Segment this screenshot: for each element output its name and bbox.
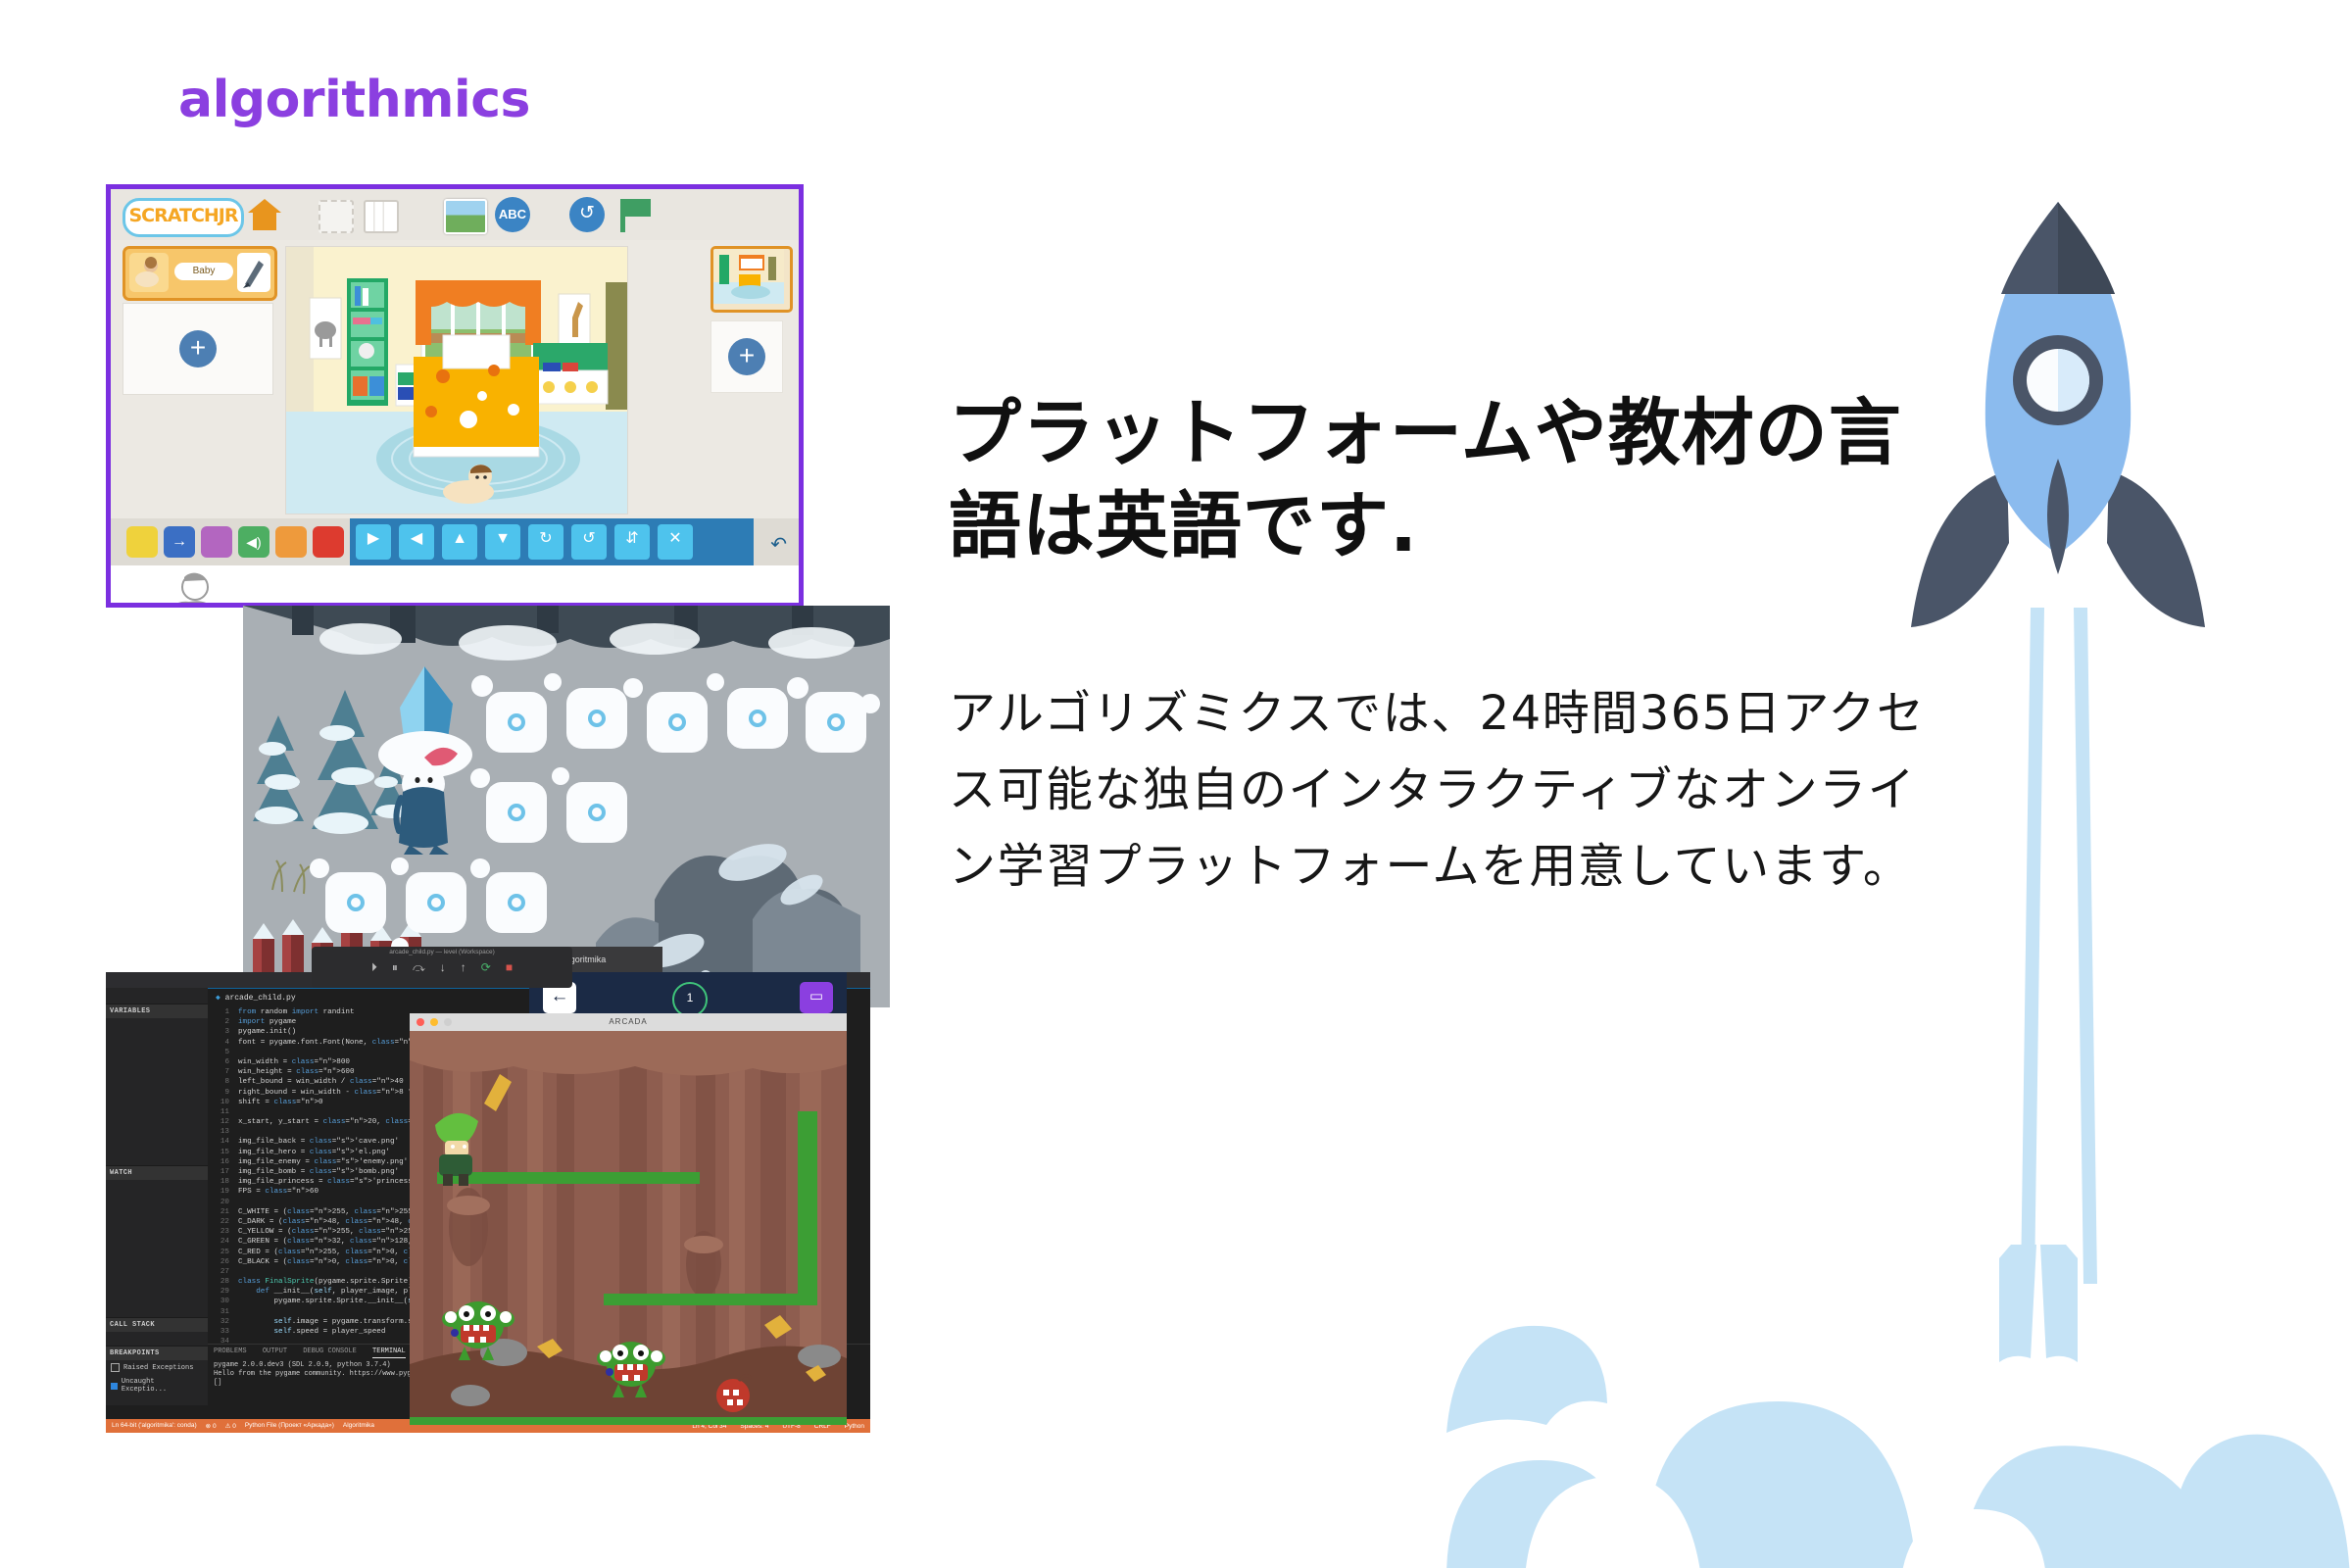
code-text: win_height = class="n">600	[238, 1068, 355, 1076]
section-call-stack[interactable]: CALL STACK	[106, 1317, 208, 1332]
stop-icon[interactable]: ■	[506, 960, 513, 974]
code-text	[238, 1308, 243, 1316]
code-text: img_file_hero = class="s">'el.png'	[238, 1149, 390, 1156]
tab-problems[interactable]: PROBLEMS	[214, 1347, 247, 1355]
close-icon[interactable]	[416, 1018, 424, 1026]
line-number: 1	[208, 1007, 229, 1017]
tab-debug-console[interactable]: DEBUG CONSOLE	[303, 1347, 357, 1355]
code-text: pygame.init()	[238, 1028, 296, 1036]
line-number: 26	[208, 1257, 229, 1267]
cave-scene	[410, 1031, 847, 1425]
page-title: プラットフォームや教材の言語は英語です.	[949, 387, 1929, 572]
line-number: 27	[208, 1267, 229, 1277]
section-watch[interactable]: WATCH	[106, 1165, 208, 1180]
tab-terminal[interactable]: TERMINAL	[372, 1347, 406, 1358]
page-panel: +	[710, 246, 789, 513]
checkbox-checked-icon[interactable]	[111, 1383, 118, 1390]
code-text	[238, 1108, 243, 1116]
line-number: 31	[208, 1307, 229, 1317]
page-list-icon[interactable]	[364, 200, 399, 233]
section-variables[interactable]: VARIABLES	[106, 1004, 208, 1018]
minimize-icon[interactable]	[430, 1018, 438, 1026]
code-text: left_bound = win_width / class="n">40	[238, 1078, 404, 1086]
breakpoint-label: Raised Exceptions	[123, 1364, 193, 1372]
character-thumbnail	[129, 253, 169, 292]
line-number: 2	[208, 1017, 229, 1027]
block-hop[interactable]: ⇵	[614, 524, 650, 560]
code-text: img_file_back = class="s">'cave.png'	[238, 1138, 399, 1146]
add-character-button[interactable]: +	[179, 330, 217, 367]
line-number: 25	[208, 1248, 229, 1257]
status-language-mode[interactable]: Python	[845, 1423, 864, 1430]
block-move-left[interactable]: ◀	[399, 524, 434, 560]
line-number: 11	[208, 1107, 229, 1117]
line-number: 8	[208, 1077, 229, 1087]
scratchjr-logo: SCRATCHJR	[122, 198, 244, 237]
line-number: 20	[208, 1198, 229, 1207]
page-thumbnail[interactable]	[710, 246, 793, 313]
category-looks[interactable]	[201, 526, 232, 558]
line-number: 16	[208, 1157, 229, 1167]
category-control[interactable]	[275, 526, 307, 558]
arcade-titlebar: ARCADA	[410, 1013, 847, 1031]
restart-icon[interactable]: ⟳	[481, 960, 491, 974]
line-number: 12	[208, 1117, 229, 1127]
add-page-button[interactable]: +	[728, 338, 765, 375]
breakpoint-label: Uncaught Exceptio...	[122, 1378, 203, 1394]
line-number: 22	[208, 1217, 229, 1227]
code-text	[238, 1268, 243, 1276]
scripting-area[interactable]	[111, 565, 799, 603]
checkbox-icon[interactable]	[111, 1363, 120, 1372]
pause-icon[interactable]: ⏸	[392, 960, 398, 975]
code-text: img_file_enemy = class="s">'enemy.png'	[238, 1158, 408, 1166]
line-number: 4	[208, 1038, 229, 1048]
code-text: from random import randint	[238, 1008, 355, 1016]
line-number: 6	[208, 1057, 229, 1067]
code-text: font = pygame.font.Font(None, class="n">…	[238, 1039, 430, 1047]
category-motion[interactable]: →	[164, 526, 195, 558]
line-number: 3	[208, 1027, 229, 1037]
block-move-down[interactable]: ▼	[485, 524, 520, 560]
line-number: 24	[208, 1237, 229, 1247]
rocket-trail	[1970, 608, 2156, 1313]
home-icon[interactable]	[248, 199, 281, 230]
line-number: 32	[208, 1317, 229, 1327]
line-number: 7	[208, 1067, 229, 1077]
editor-tab-label: arcade_child.py	[225, 994, 296, 1003]
line-number: 9	[208, 1088, 229, 1098]
line-number: 29	[208, 1287, 229, 1297]
line-number: 19	[208, 1187, 229, 1197]
step-over-icon[interactable]: ⤼	[413, 960, 425, 975]
slide-root: algorithmics SCRATCHJR ABC ↺ Baby +	[0, 0, 2352, 1568]
debug-floating-toolbar[interactable]: arcade_child.py — level (Workspace) ⏵ ⏸ …	[312, 947, 572, 988]
block-go-home[interactable]: ✕	[658, 524, 693, 560]
chat-icon[interactable]: ▭	[800, 982, 833, 1013]
python-file-icon: ◆	[216, 994, 220, 1003]
page-grid-icon[interactable]	[318, 200, 354, 233]
cloud-illustration	[1352, 1245, 2352, 1568]
line-number: 28	[208, 1277, 229, 1287]
category-triggering[interactable]	[126, 526, 158, 558]
code-text: pygame.sprite.Sprite.__init__(self)	[238, 1298, 430, 1305]
block-turn-right[interactable]: ↻	[528, 524, 563, 560]
step-into-icon[interactable]: ↓	[440, 960, 446, 974]
block-turn-left[interactable]: ↺	[571, 524, 607, 560]
line-number: 21	[208, 1207, 229, 1217]
tab-output[interactable]: OUTPUT	[263, 1347, 287, 1355]
block-palette: → ◀) ▶ ◀ ▲ ▼ ↻ ↺ ⇵ ✕ ↶	[111, 518, 799, 565]
scratchjr-toolbar: SCRATCHJR ABC ↺	[111, 189, 799, 240]
code-text: FPS = class="n">60	[238, 1188, 318, 1196]
page-description: アルゴリズミクスでは、24時間365日アクセス可能な独自のインタラクティブなオン…	[949, 676, 1948, 905]
code-text: img_file_princess = class="s">'princess.…	[238, 1178, 435, 1186]
code-text	[238, 1128, 243, 1136]
code-text: shift = class="n">0	[238, 1099, 323, 1106]
category-sound[interactable]: ◀)	[238, 526, 269, 558]
line-number: 13	[208, 1127, 229, 1137]
debug-sidebar: VARIABLES WATCH CALL STACK BREAKPOINTS R…	[106, 988, 208, 1405]
step-out-icon[interactable]: ↑	[461, 960, 466, 974]
line-number: 30	[208, 1297, 229, 1306]
block-move-right[interactable]: ▶	[356, 524, 391, 560]
motion-block-strip: ▶ ◀ ▲ ▼ ↻ ↺ ⇵ ✕	[350, 518, 754, 565]
line-number: 14	[208, 1137, 229, 1147]
add-page-slot[interactable]: +	[710, 320, 783, 393]
code-text	[238, 1049, 243, 1056]
line-number: 18	[208, 1177, 229, 1187]
breakpoint-row[interactable]: Uncaught Exceptio...	[106, 1375, 208, 1396]
brand-logo: algorithmics	[178, 71, 530, 129]
code-text	[238, 1199, 243, 1206]
status-python-env[interactable]: Ln 64-bit ('algoritmika': conda)	[112, 1422, 197, 1430]
block-move-up[interactable]: ▲	[442, 524, 477, 560]
rocket-illustration	[1891, 176, 2225, 647]
section-breakpoints[interactable]: BREAKPOINTS	[106, 1346, 208, 1360]
line-number: 23	[208, 1227, 229, 1237]
code-text: win_width = class="n">800	[238, 1058, 350, 1066]
line-number: 33	[208, 1327, 229, 1337]
code-text: img_file_bomb = class="s">'bomb.png'	[238, 1168, 399, 1176]
add-character-slot[interactable]: +	[122, 303, 273, 395]
undo-icon[interactable]: ↶	[770, 532, 787, 557]
arcade-scene	[410, 1031, 847, 1425]
status-warnings[interactable]: ⚠ 0	[225, 1422, 236, 1430]
debug-toolbar-title: arcade_child.py — level (Workspace)	[312, 949, 572, 955]
breakpoint-row[interactable]: Raised Exceptions	[106, 1360, 208, 1375]
scratchjr-stage	[285, 246, 628, 514]
status-workspace[interactable]: Algoritmika	[343, 1422, 374, 1430]
continue-icon[interactable]: ⏵	[371, 960, 377, 975]
line-number: 10	[208, 1098, 229, 1107]
code-text: class FinalSprite(pygame.sprite.Sprite):	[238, 1278, 416, 1286]
line-number: 17	[208, 1167, 229, 1177]
step-indicator[interactable]: 1	[672, 982, 708, 1017]
arcade-window-title: ARCADA	[410, 1013, 847, 1031]
bedroom-scene	[286, 247, 627, 514]
arcade-game-window: ARCADA	[410, 1013, 847, 1425]
code-text: self.speed = player_speed	[238, 1328, 385, 1336]
line-number: 15	[208, 1148, 229, 1157]
baby-sprite-outline	[144, 571, 262, 608]
maximize-icon[interactable]	[444, 1018, 452, 1026]
scratchjr-screenshot: SCRATCHJR ABC ↺ Baby +	[106, 184, 804, 608]
status-run-config[interactable]: Python File (Проект «Аркада»)	[245, 1422, 334, 1430]
status-errors[interactable]: ⊗ 0	[206, 1422, 217, 1430]
code-text: import pygame	[238, 1018, 296, 1026]
character-panel[interactable]: Baby	[122, 246, 277, 301]
paint-brush-icon[interactable]	[237, 253, 270, 292]
character-name: Baby	[174, 263, 233, 280]
reset-icon[interactable]: ↺	[569, 197, 605, 232]
line-number: 5	[208, 1048, 229, 1057]
category-end[interactable]	[313, 526, 344, 558]
abc-text-icon[interactable]: ABC	[495, 197, 530, 232]
background-icon[interactable]	[444, 199, 487, 234]
